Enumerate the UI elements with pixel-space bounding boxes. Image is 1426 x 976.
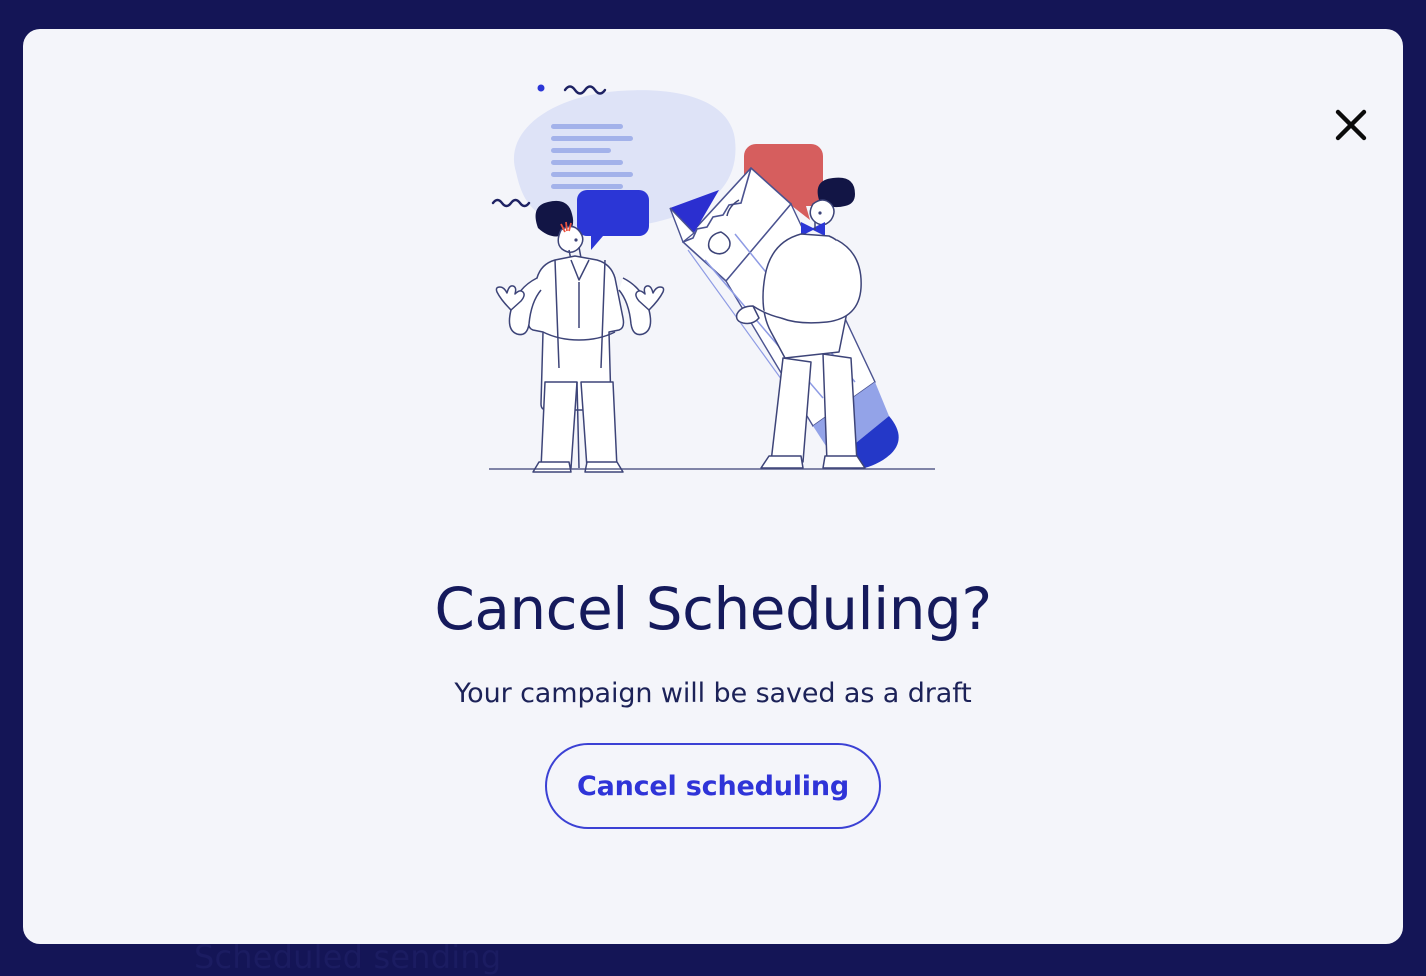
modal-body: Cancel Scheduling? Your campaign will be… <box>23 29 1403 944</box>
modal-subtitle: Your campaign will be saved as a draft <box>454 678 971 709</box>
page-title: Cancel Scheduling? <box>434 580 991 638</box>
squiggle-right <box>565 87 605 94</box>
person-shrugging <box>496 201 663 472</box>
cancel-scheduling-modal: Cancel Scheduling? Your campaign will be… <box>23 29 1403 944</box>
decorative-dot <box>538 85 545 92</box>
cancel-scheduling-button[interactable]: Cancel scheduling <box>545 743 881 829</box>
squiggle-left <box>493 200 529 206</box>
blue-speech-bubble <box>577 190 649 250</box>
modal-illustration <box>483 82 943 482</box>
